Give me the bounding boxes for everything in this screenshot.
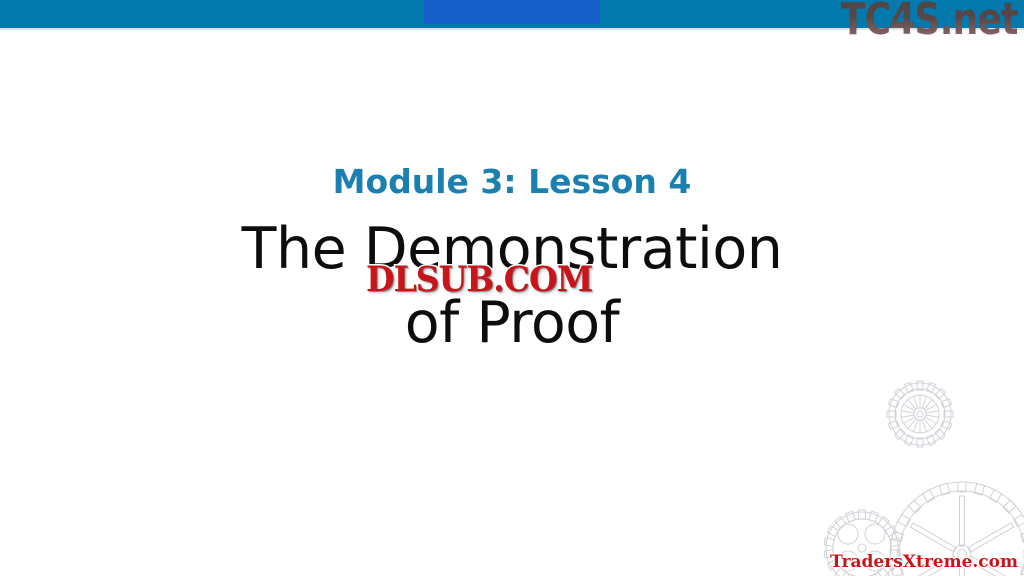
- tradersxtreme-watermark: TradersXtreme.com: [830, 552, 1018, 572]
- title-line-2: of Proof: [0, 286, 1024, 360]
- gear-small-bottom: [824, 510, 900, 576]
- top-progress-bar[interactable]: [0, 0, 1024, 28]
- slide-text-block: Module 3: Lesson 4 The Demonstration of …: [0, 160, 1024, 360]
- progress-bar-fill[interactable]: [424, 0, 600, 24]
- gear-small-top: [887, 381, 953, 447]
- page-title: The Demonstration of Proof: [0, 212, 1024, 360]
- gears-icon: [824, 376, 1024, 576]
- title-line-1: The Demonstration: [0, 212, 1024, 286]
- topbar-divider: [0, 28, 1024, 30]
- gear-large: [890, 482, 1024, 576]
- lesson-eyebrow: Module 3: Lesson 4: [0, 160, 1024, 204]
- presentation-slide: TC4S.net: [0, 0, 1024, 576]
